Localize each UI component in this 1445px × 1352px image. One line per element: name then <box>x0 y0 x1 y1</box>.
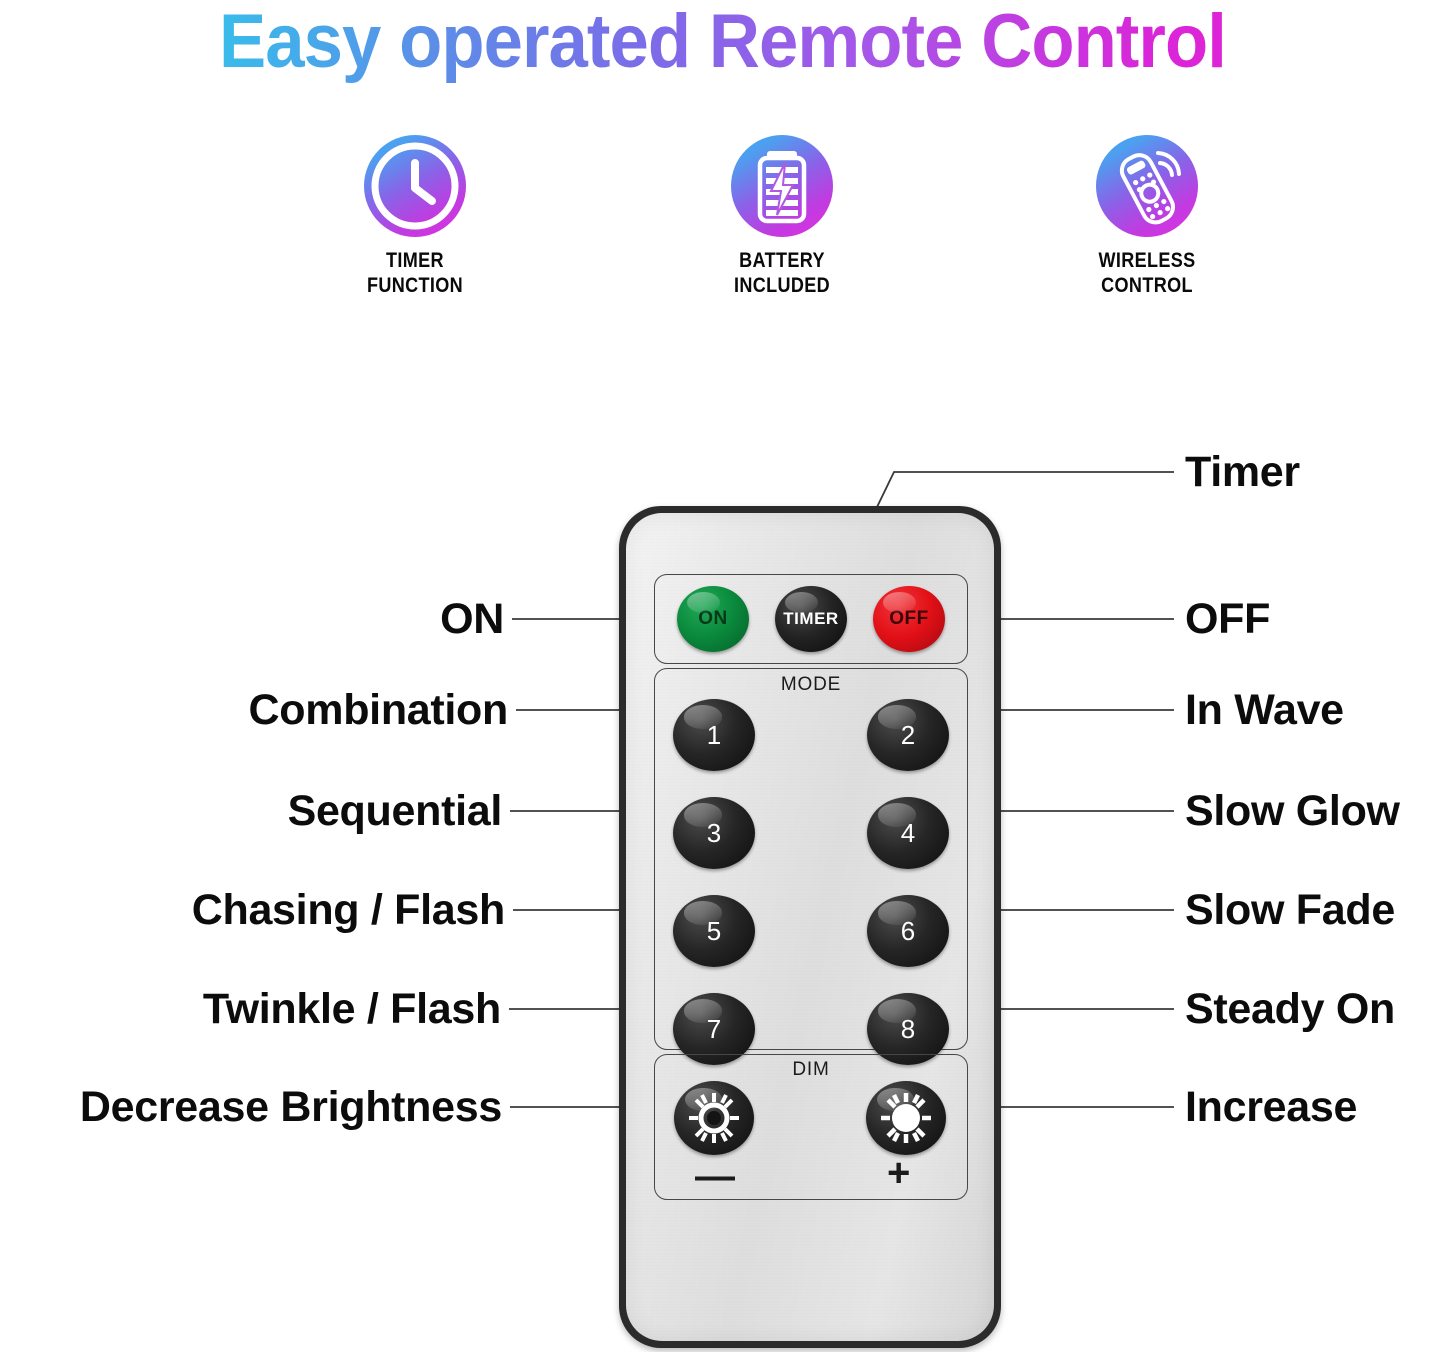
feature-label: BATTERY INCLUDED <box>679 248 885 298</box>
mode-button-3[interactable]: 3 <box>673 797 755 869</box>
feature-label-line2: FUNCTION <box>312 273 518 298</box>
callout-chasing-flash: Chasing / Flash <box>0 885 505 935</box>
callout-steady-on: Steady On <box>1185 984 1395 1034</box>
mode-button-8-label: 8 <box>901 1014 915 1045</box>
feature-timer-function: TIMER FUNCTION <box>295 135 535 298</box>
dim-group-title: DIM <box>655 1059 967 1081</box>
dim-minus-sign: — <box>695 1156 735 1196</box>
page-title: Easy operated Remote Control <box>51 0 1395 88</box>
callout-twinkle-flash: Twinkle / Flash <box>0 984 501 1034</box>
mode-button-2-label: 2 <box>901 720 915 751</box>
feature-label-line1: BATTERY <box>739 249 825 272</box>
feature-wireless-control: WIRELESS CONTROL <box>1027 135 1267 298</box>
callout-sequential: Sequential <box>0 786 502 836</box>
mode-button-7-label: 7 <box>707 1014 721 1045</box>
dim-button-group: DIM <box>654 1054 968 1200</box>
feature-battery-included: BATTERY INCLUDED <box>662 135 902 298</box>
on-button[interactable]: ON <box>677 586 749 652</box>
remote-faceplate: ON TIMER OFF MODE 1 2 3 4 5 6 7 8 DIM <box>626 513 994 1341</box>
mode-button-5-label: 5 <box>707 916 721 947</box>
feature-label: WIRELESS CONTROL <box>1044 248 1250 298</box>
mode-button-1[interactable]: 1 <box>673 699 755 771</box>
callout-increase: Increase <box>1185 1082 1357 1132</box>
mode-button-1-label: 1 <box>707 720 721 751</box>
sun-hollow-icon <box>878 1090 934 1146</box>
callout-on: ON <box>0 594 504 644</box>
off-button[interactable]: OFF <box>873 586 945 652</box>
timer-button[interactable]: TIMER <box>775 586 847 652</box>
remote-signal-icon <box>1096 135 1198 237</box>
mode-button-3-label: 3 <box>707 818 721 849</box>
mode-group-title: MODE <box>655 674 967 696</box>
callout-combination: Combination <box>0 685 508 735</box>
sun-filled-icon <box>686 1090 742 1146</box>
dim-decrease-button[interactable] <box>674 1081 754 1155</box>
feature-label-line1: WIRELESS <box>1098 249 1195 272</box>
callout-slow-glow: Slow Glow <box>1185 786 1400 836</box>
feature-highlights: TIMER FUNCTION BATTERY INCLUDED <box>0 135 1445 315</box>
feature-label-line2: INCLUDED <box>679 273 885 298</box>
feature-label-line2: CONTROL <box>1044 273 1250 298</box>
callout-slow-fade: Slow Fade <box>1185 885 1395 935</box>
remote-control-device: ON TIMER OFF MODE 1 2 3 4 5 6 7 8 DIM <box>619 506 1001 1348</box>
callout-decrease-brightness: Decrease Brightness <box>0 1082 502 1132</box>
mode-button-2[interactable]: 2 <box>867 699 949 771</box>
feature-label-line1: TIMER <box>386 249 444 272</box>
clock-icon <box>364 135 466 237</box>
feature-label: TIMER FUNCTION <box>312 248 518 298</box>
dim-increase-button[interactable] <box>866 1081 946 1155</box>
mode-button-6-label: 6 <box>901 916 915 947</box>
mode-button-4[interactable]: 4 <box>867 797 949 869</box>
callout-timer: Timer <box>1185 447 1300 497</box>
on-button-label: ON <box>698 608 728 630</box>
power-button-group: ON TIMER OFF <box>654 574 968 664</box>
mode-button-5[interactable]: 5 <box>673 895 755 967</box>
callout-off: OFF <box>1185 594 1270 644</box>
battery-icon <box>731 135 833 237</box>
mode-button-4-label: 4 <box>901 818 915 849</box>
mode-button-group: MODE 1 2 3 4 5 6 7 8 <box>654 668 968 1050</box>
callout-in-wave: In Wave <box>1185 685 1344 735</box>
timer-button-label: TIMER <box>783 609 838 629</box>
off-button-label: OFF <box>889 608 929 630</box>
dim-plus-sign: + <box>887 1153 910 1193</box>
mode-button-6[interactable]: 6 <box>867 895 949 967</box>
